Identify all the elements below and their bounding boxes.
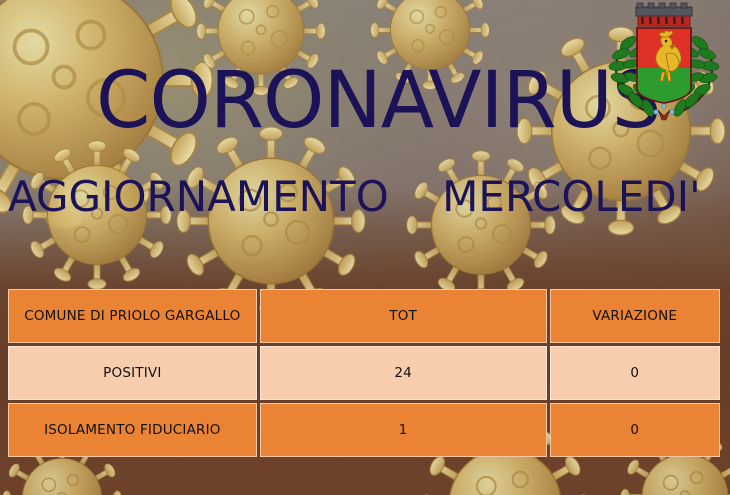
row-variation-isolamento-fiduciario: 0 (550, 403, 720, 457)
row-label-isolamento-fiduciario: ISOLAMENTO FIDUCIARIO (8, 403, 257, 457)
header-cell-variation: VARIAZIONE (550, 289, 720, 343)
coronavirus-update-poster: CORONAVIRUS AGGIORNAMENTO MERCOLEDI' 25-… (0, 0, 730, 495)
row-total-isolamento-fiduciario: 1 (260, 403, 547, 457)
shield-icon (637, 28, 691, 103)
table-row: ISOLAMENTO FIDUCIARIO 1 0 (8, 403, 720, 457)
row-total-positivi: 24 (260, 346, 547, 400)
table-header-row: COMUNE DI PRIOLO GARGALLO TOT VARIAZIONE (8, 289, 720, 343)
row-label-positivi: POSITIVI (8, 346, 257, 400)
page-title: CORONAVIRUS (96, 62, 660, 140)
row-variation-positivi: 0 (550, 346, 720, 400)
municipality-coat-of-arms (604, 2, 724, 126)
table-row: POSITIVI 24 0 (8, 346, 720, 400)
crown-icon (636, 3, 692, 26)
update-date-heading: AGGIORNAMENTO MERCOLEDI' 25-11-2020 (8, 176, 730, 218)
header-cell-municipality: COMUNE DI PRIOLO GARGALLO (8, 289, 257, 343)
covid-stats-table: COMUNE DI PRIOLO GARGALLO TOT VARIAZIONE… (5, 286, 723, 460)
header-cell-total: TOT (260, 289, 547, 343)
